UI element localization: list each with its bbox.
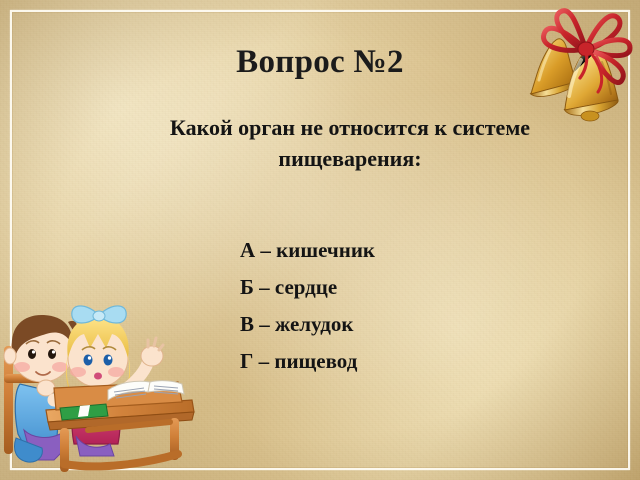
question-line-1: Какой орган не относится к системе (60, 112, 640, 143)
question-line-2: пищеварения: (60, 143, 640, 174)
answer-options-list: А – кишечник Б – сердце В – желудок Г – … (240, 232, 600, 380)
quiz-slide: Вопрос №2 Какой орган не относится к сис… (0, 0, 640, 480)
answer-option-a[interactable]: А – кишечник (240, 232, 600, 269)
answer-option-b[interactable]: Б – сердце (240, 269, 600, 306)
answer-option-v[interactable]: В – желудок (240, 306, 600, 343)
answer-option-g[interactable]: Г – пищевод (240, 343, 600, 380)
slide-content: Вопрос №2 Какой орган не относится к сис… (0, 0, 640, 480)
question-text: Какой орган не относится к системе пищев… (60, 112, 640, 174)
page-title: Вопрос №2 (0, 44, 640, 81)
